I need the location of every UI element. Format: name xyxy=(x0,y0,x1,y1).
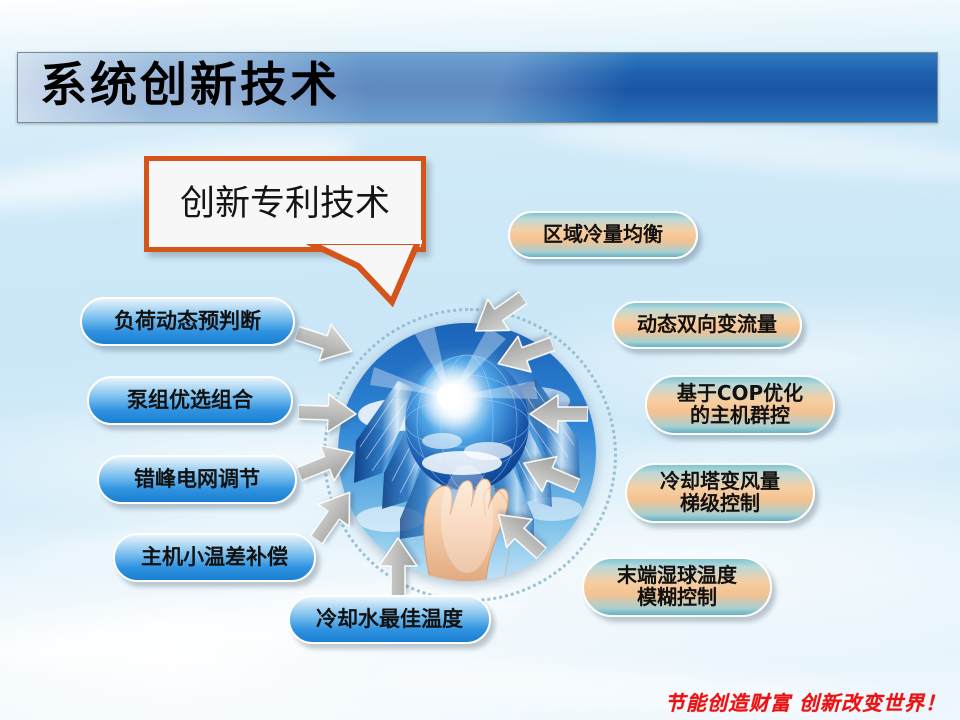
node-pill-left-3[interactable]: 错峰电网调节 xyxy=(97,455,297,504)
node-pill-left-label: 泵组优选组合 xyxy=(127,389,253,412)
node-pill-right-label: 冷却塔变风量 梯级控制 xyxy=(660,471,780,514)
node-pill-left-label: 冷却水最佳温度 xyxy=(316,608,463,631)
page-title: 系统创新技术 xyxy=(40,50,340,121)
globe-in-hands-illustration xyxy=(338,323,596,581)
node-pill-right-label: 区域冷量均衡 xyxy=(543,224,663,246)
hub-image xyxy=(338,323,596,581)
node-pill-left-5[interactable]: 冷却水最佳温度 xyxy=(288,595,491,644)
callout-box: 创新专利技术 xyxy=(144,156,426,252)
footer-slogan: 节能创造财富 创新改变世界！ xyxy=(665,687,946,716)
node-pill-right-label: 动态双向变流量 xyxy=(637,314,777,336)
node-pill-left-1[interactable]: 负荷动态预判断 xyxy=(80,297,295,346)
node-pill-right-4[interactable]: 冷却塔变风量 梯级控制 xyxy=(625,463,815,523)
slide-canvas: 系统创新技术 创新专利技术 xyxy=(0,0,960,720)
node-pill-right-1[interactable]: 区域冷量均衡 xyxy=(508,211,698,259)
node-pill-left-4[interactable]: 主机小温差补偿 xyxy=(113,533,316,582)
node-pill-right-2[interactable]: 动态双向变流量 xyxy=(612,301,802,349)
callout-label: 创新专利技术 xyxy=(149,161,421,247)
node-pill-left-2[interactable]: 泵组优选组合 xyxy=(87,376,293,425)
node-pill-right-3[interactable]: 基于COP优化 的主机群控 xyxy=(645,375,835,435)
title-banner: 系统创新技术 xyxy=(17,52,938,123)
node-pill-right-5[interactable]: 末端湿球温度 模糊控制 xyxy=(582,557,772,617)
node-pill-left-label: 负荷动态预判断 xyxy=(114,310,261,333)
node-pill-left-label: 错峰电网调节 xyxy=(134,468,260,491)
node-pill-right-label: 基于COP优化 的主机群控 xyxy=(677,383,803,426)
node-pill-left-label: 主机小温差补偿 xyxy=(141,546,288,569)
node-pill-right-label: 末端湿球温度 模糊控制 xyxy=(617,565,737,608)
